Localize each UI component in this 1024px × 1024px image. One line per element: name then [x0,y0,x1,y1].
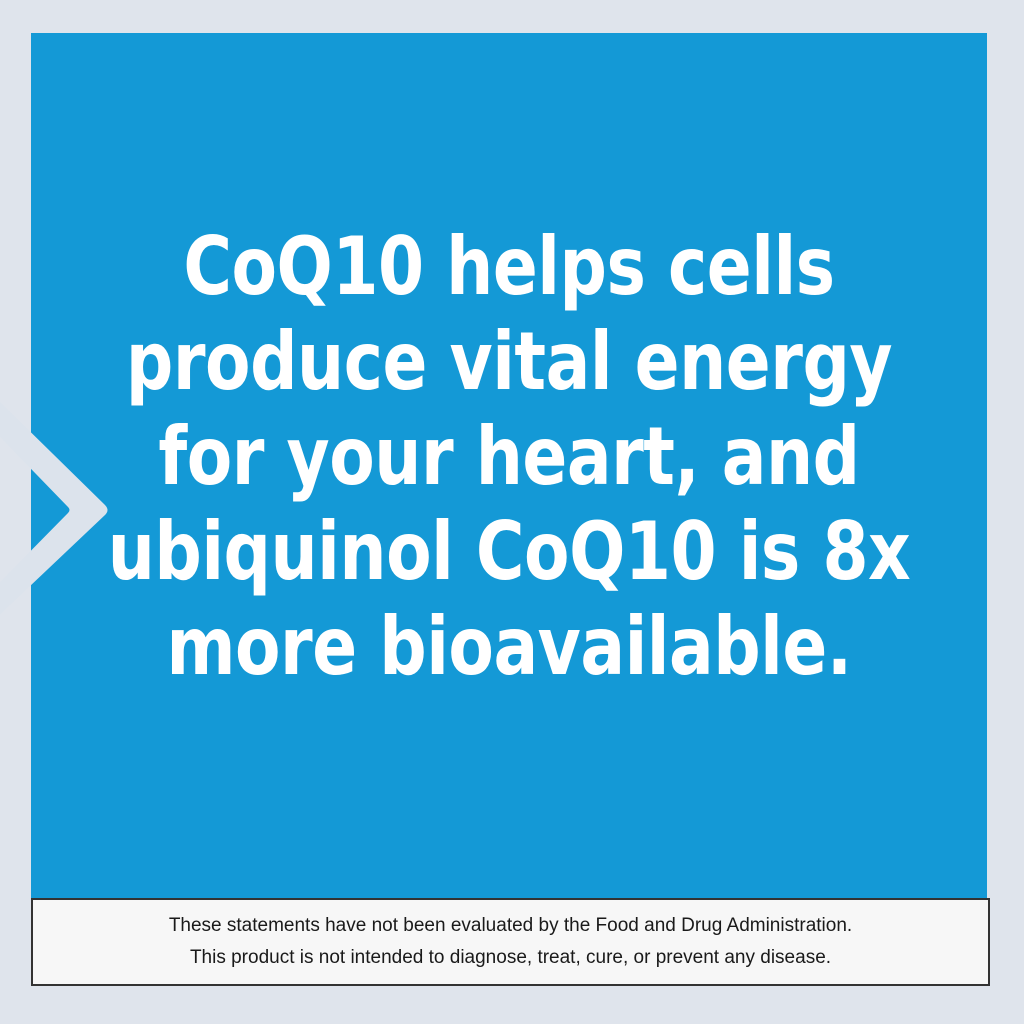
disclaimer-line-1: These statements have not been evaluated… [169,910,852,942]
headline-line-3: for your heart, and [104,409,914,504]
headline-line-4: ubiquinol CoQ10 is 8x [104,504,914,599]
headline-line-5: more bioavailable. [104,599,914,694]
promo-poster: CoQ10 helps cells produce vital energy f… [0,0,1024,1024]
disclaimer-line-2: This product is not intended to diagnose… [190,942,831,974]
headline-lines: CoQ10 helps cells produce vital energy f… [69,219,949,712]
headline-line-2: produce vital energy [104,314,914,409]
fda-disclaimer-box: These statements have not been evaluated… [31,898,990,986]
headline-block: CoQ10 helps cells produce vital energy f… [31,33,987,898]
headline-line-1: CoQ10 helps cells [104,219,914,314]
